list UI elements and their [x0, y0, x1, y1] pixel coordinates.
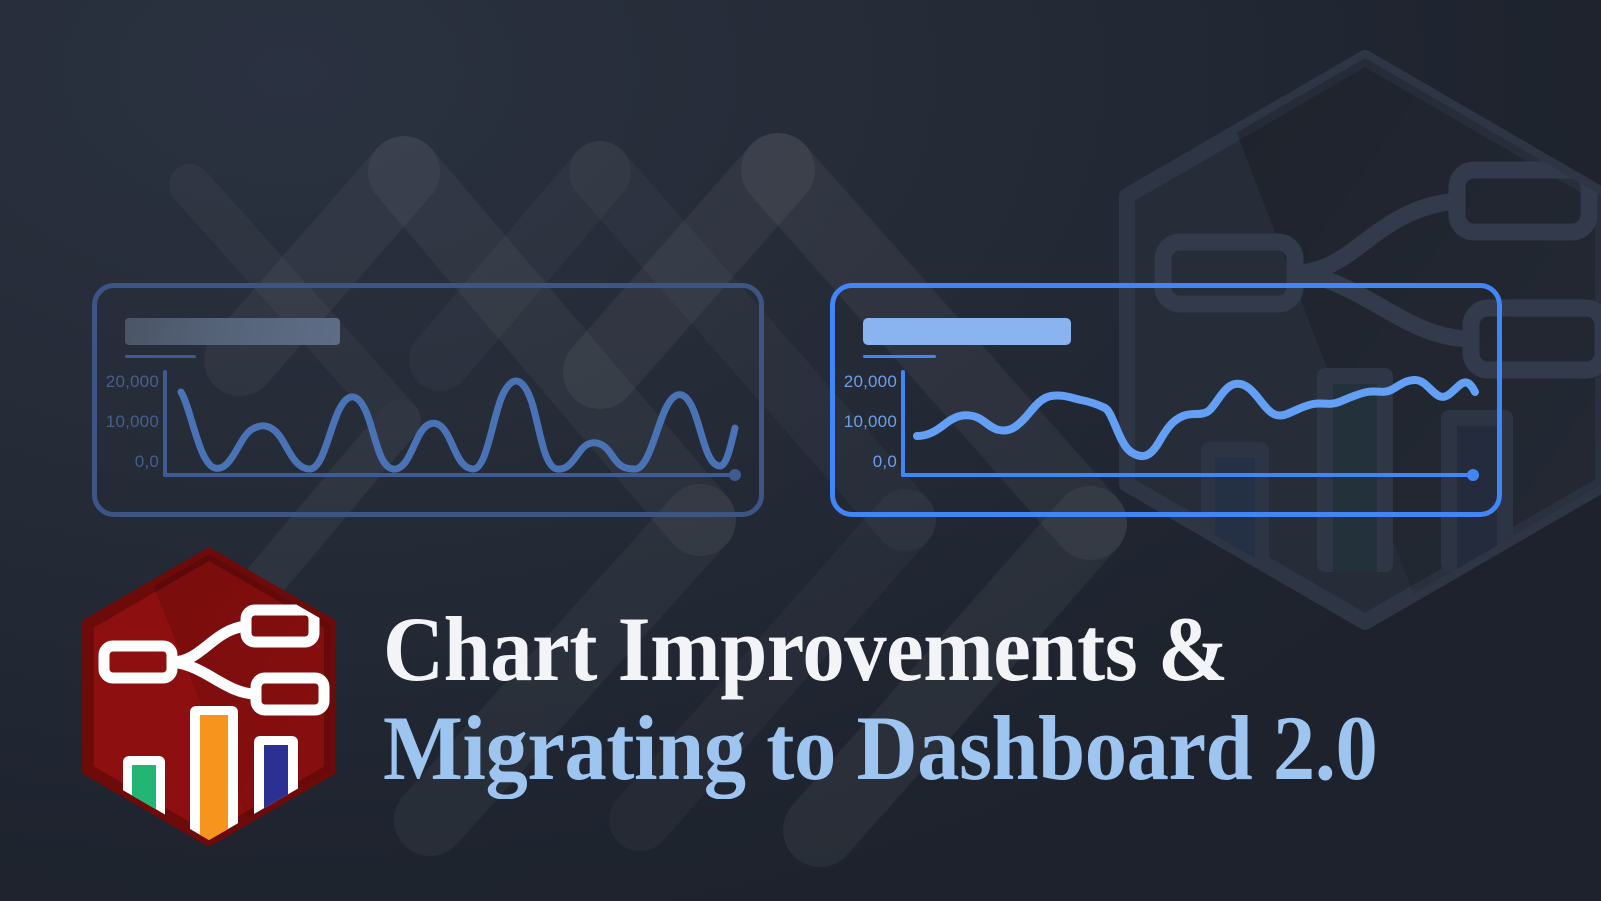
headline-line-1: Chart Improvements & [383, 604, 1413, 695]
hexagon-chart-pipeline-logo [78, 548, 340, 846]
panel-accent-underline [125, 355, 196, 358]
headline-block: Chart Improvements & Migrating to Dashbo… [383, 604, 1503, 794]
y-axis-tick-0: 0,0 [827, 452, 897, 472]
panel-body: 20,000 10,000 0,0 [835, 288, 1497, 512]
chart-panel-after[interactable]: 20,000 10,000 0,0 [830, 283, 1502, 517]
y-axis-tick-20000: 20,000 [827, 372, 897, 392]
y-axis-tick-10000: 10,000 [89, 412, 159, 432]
y-axis-tick-0: 0,0 [89, 452, 159, 472]
line-chart-before [163, 372, 747, 480]
y-axis-tick-10000: 10,000 [827, 412, 897, 432]
banner-canvas: 20,000 10,000 0,0 20,000 10,000 0,0 [0, 0, 1601, 901]
panel-title-placeholder [863, 318, 1071, 345]
line-chart-after [901, 372, 1485, 480]
chart-panel-before[interactable]: 20,000 10,000 0,0 [92, 283, 764, 517]
panel-body: 20,000 10,000 0,0 [97, 288, 759, 512]
panel-accent-underline [863, 355, 936, 358]
bar-blue [264, 745, 288, 846]
y-axis-tick-20000: 20,000 [89, 372, 159, 392]
panel-title-placeholder [125, 318, 340, 345]
bar-orange [200, 715, 228, 846]
headline-line-2: Migrating to Dashboard 2.0 [383, 703, 1413, 794]
